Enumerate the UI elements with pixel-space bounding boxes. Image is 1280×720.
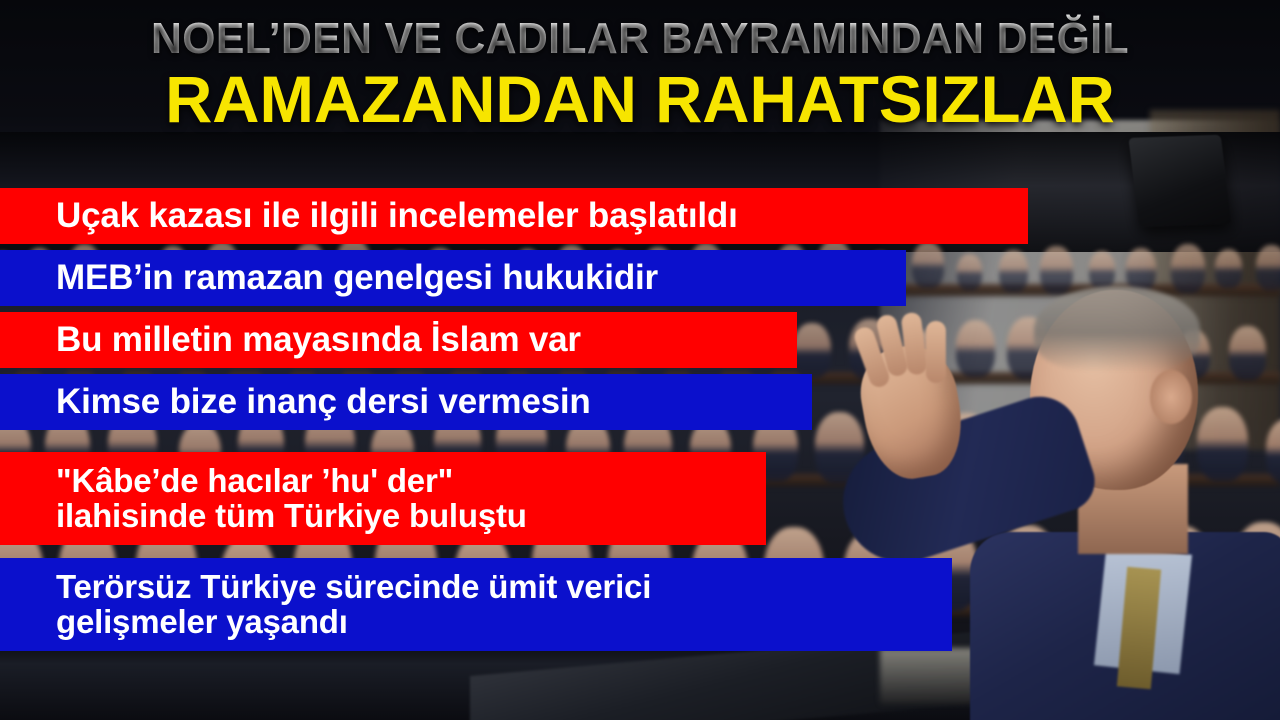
news-graphic: NOEL’DEN VE CADILAR BAYRAMINDAN DEĞİL RA… bbox=[0, 0, 1280, 720]
headline-bar-list: Uçak kazası ile ilgili incelemeler başla… bbox=[0, 0, 1280, 720]
headline-bar-terorsuz-turkiye[interactable]: Terörsüz Türkiye sürecinde ümit verici g… bbox=[0, 558, 952, 651]
headline-text-block: "Kâbe’de hacılar ’hu' der" ilahisinde tü… bbox=[56, 464, 527, 533]
headline-bar-inanc-dersi[interactable]: Kimse bize inanç dersi vermesin bbox=[0, 374, 812, 430]
headline-text-line-2: ilahisinde tüm Türkiye buluştu bbox=[56, 499, 527, 533]
headline-bar-milletin-mayasi[interactable]: Bu milletin mayasında İslam var bbox=[0, 312, 797, 368]
headline-bar-ucak-kazasi[interactable]: Uçak kazası ile ilgili incelemeler başla… bbox=[0, 188, 1028, 244]
headline-text: Kimse bize inanç dersi vermesin bbox=[56, 382, 591, 422]
headline-text-block: Terörsüz Türkiye sürecinde ümit verici g… bbox=[56, 570, 651, 639]
headline-text: Uçak kazası ile ilgili incelemeler başla… bbox=[56, 196, 738, 236]
headline-bar-kabe-ilahi[interactable]: "Kâbe’de hacılar ’hu' der" ilahisinde tü… bbox=[0, 452, 766, 545]
headline-text-line-2: gelişmeler yaşandı bbox=[56, 605, 651, 639]
headline-bar-meb-genelge[interactable]: MEB’in ramazan genelgesi hukukidir bbox=[0, 250, 906, 306]
headline-text-line-1: "Kâbe’de hacılar ’hu' der" bbox=[56, 464, 527, 498]
headline-text: MEB’in ramazan genelgesi hukukidir bbox=[56, 258, 658, 298]
headline-text-line-1: Terörsüz Türkiye sürecinde ümit verici bbox=[56, 570, 651, 604]
headline-text: Bu milletin mayasında İslam var bbox=[56, 320, 581, 360]
